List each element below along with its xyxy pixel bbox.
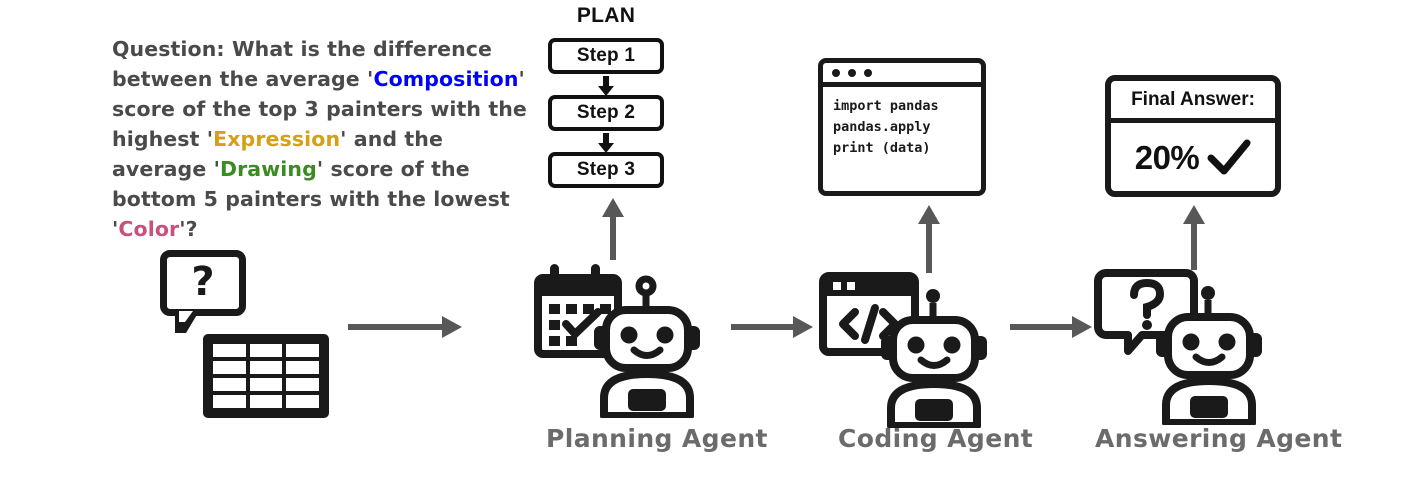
final-answer-header: Final Answer: [1111,81,1275,123]
code-line: print (data) [833,138,981,159]
plan-title: PLAN [548,4,664,28]
plan-arrow-1-to-2-icon [598,76,614,96]
table-cell [250,344,283,357]
table-cell [213,344,246,357]
table-icon [203,334,329,418]
question-mark-glyph: ? [167,262,239,302]
code-window-body: import pandas pandas.apply print (data) [823,87,981,159]
table-cell [286,344,319,357]
table-cell [250,378,283,391]
plan-step-3[interactable]: Step 3 [548,152,664,188]
code-window-titlebar [823,63,981,87]
window-dot-icon [832,69,840,77]
code-line: import pandas [833,96,981,117]
table-cell [286,361,319,374]
keyword-drawing-label: Drawing [220,157,317,181]
final-answer-box: Final Answer: 20% [1105,75,1281,197]
final-answer-value: 20% [1135,139,1200,177]
diagram-canvas: Question: What is the difference between… [0,0,1413,497]
question-text: Question: What is the difference between… [112,34,532,244]
table-cell [213,378,246,391]
coding-agent-robot [815,268,1015,428]
plan-step-1[interactable]: Step 1 [548,38,664,74]
arrow-answering-to-answer-icon [1183,205,1205,270]
planning-agent-robot [528,258,728,418]
robot-icon [594,279,700,416]
plan-arrow-2-to-3-icon [598,133,614,153]
table-cell [286,378,319,391]
keyword-composition-label: Composition [373,67,518,91]
code-window: import pandas pandas.apply print (data) [818,58,986,196]
question-bubble-icon: ? [160,250,246,316]
checkmark-icon [1207,139,1251,177]
table-cell [286,395,319,408]
code-line: pandas.apply [833,117,981,138]
question-bubble-tail-inner [179,311,193,322]
answering-agent-robot [1090,265,1290,425]
arrow-planning-to-coding-icon [731,316,813,338]
arrow-coding-to-answering-icon [1010,316,1092,338]
final-answer-body: 20% [1111,123,1275,192]
agent-label-planning: Planning Agent [546,424,768,453]
table-cell [250,361,283,374]
window-dot-icon [864,69,872,77]
table-cell [250,395,283,408]
plan-step-2[interactable]: Step 2 [548,95,664,131]
arrow-input-to-planning-icon [348,316,462,338]
agent-label-coding: Coding Agent [838,424,1033,453]
keyword-color-label: Color [118,217,179,241]
table-cell [213,395,246,408]
arrow-coding-to-code-icon [918,205,940,273]
arrow-planning-to-plan-icon [602,198,624,260]
table-cell [213,361,246,374]
window-dot-icon [848,69,856,77]
agent-label-answering: Answering Agent [1095,424,1342,453]
keyword-expression-label: Expression [213,127,340,151]
